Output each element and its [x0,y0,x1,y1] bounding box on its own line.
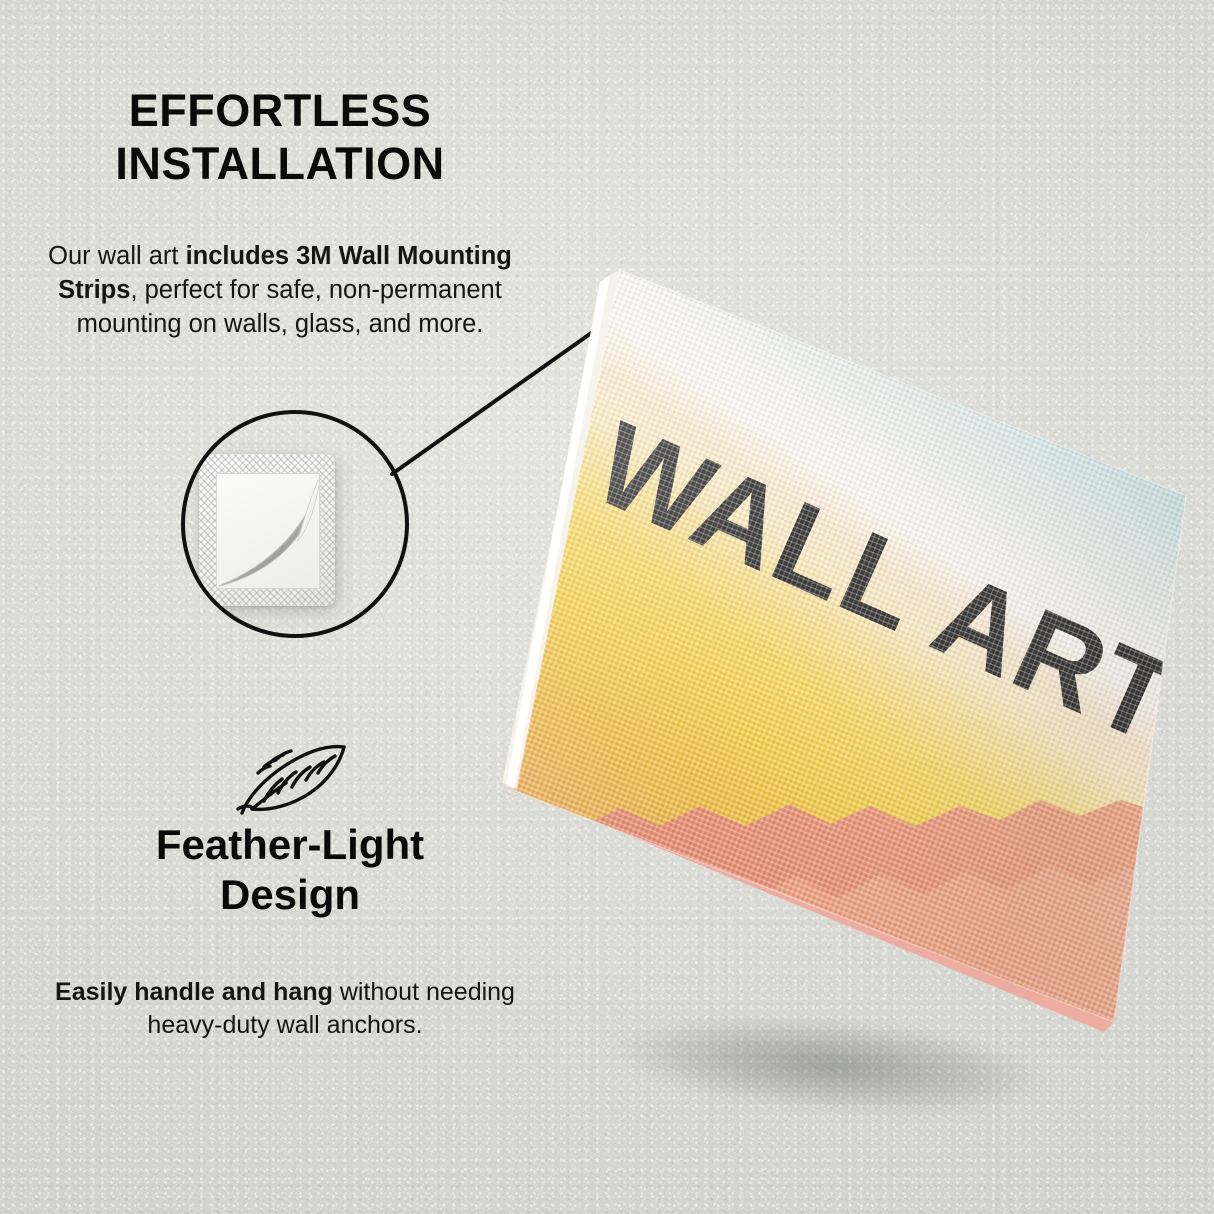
mountain-front-ridge [440,944,1060,1160]
canvas-artwork: WALL ART [0,0,1214,1214]
infographic-stage: EFFORTLESS INSTALLATION Our wall art inc… [0,0,1214,1214]
mountain-left-dark-ridge [470,866,740,1060]
canvas-light-falloff [400,200,1214,1100]
canvas-artwork-svg: WALL ART [0,0,1214,1214]
